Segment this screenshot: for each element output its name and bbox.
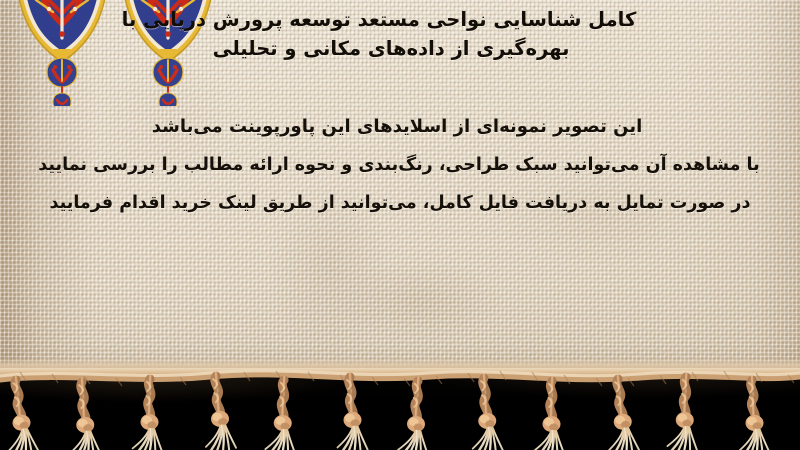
slide-body: این تصویر نمونه‌ای از اسلایدهای این پاور… [0,108,800,222]
slide-canvas: کامل شناسایی نواحی مستعد توسعه پرورش دری… [0,0,800,450]
knotted-tassel-fringe-icon [0,368,800,450]
slide-title: کامل شناسایی نواحی مستعد توسعه پرورش دری… [0,5,800,63]
tassel-fringe-band [0,368,800,450]
body-line-2: با مشاهده آن می‌توانید سبک طراحی، رنگ‌بن… [0,146,798,184]
text-layer: کامل شناسایی نواحی مستعد توسعه پرورش دری… [0,0,800,380]
title-line-2: بهره‌گیری از داده‌های مکانی و تحلیلی [18,34,764,63]
title-line-1: کامل شناسایی نواحی مستعد توسعه پرورش دری… [18,5,740,34]
body-line-3: در صورت تمایل به دریافت فایل کامل، می‌تو… [0,184,800,222]
body-line-1: این تصویر نمونه‌ای از اسلایدهای این پاور… [0,108,794,146]
